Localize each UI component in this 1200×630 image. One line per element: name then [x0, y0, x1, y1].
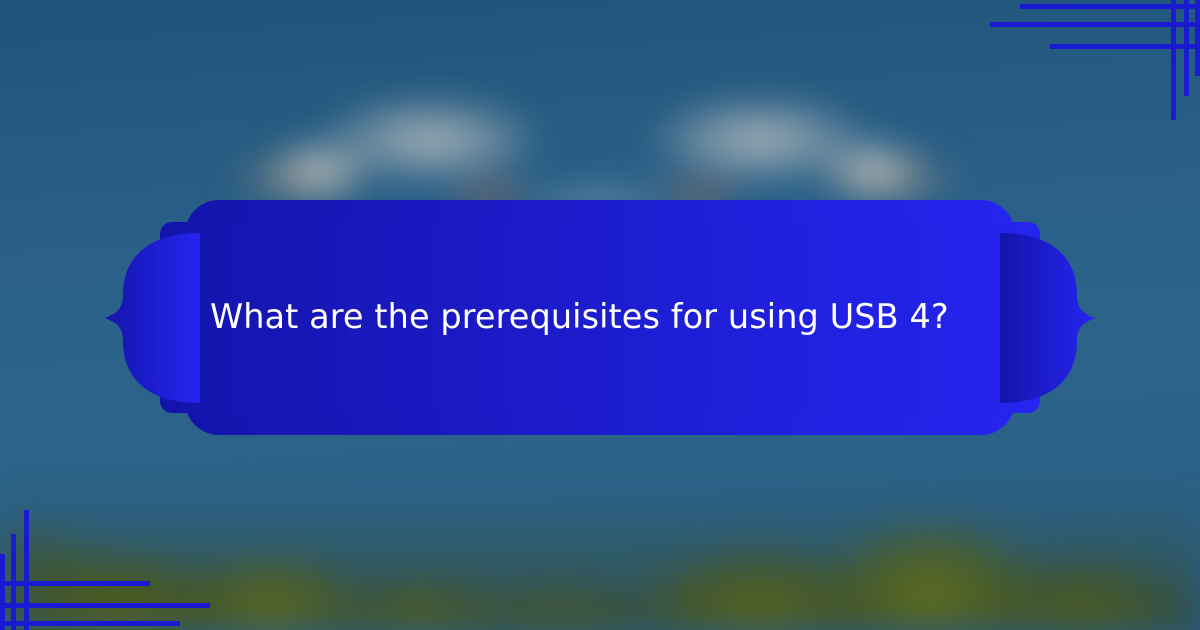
question-card: What are the prerequisites for using USB… [0, 0, 1200, 630]
lattice-horizontal-lines [990, 4, 1200, 49]
corner-lattice-top-right [980, 0, 1200, 120]
lattice-vertical-lines [0, 510, 29, 630]
lattice-horizontal-lines [0, 581, 210, 626]
corner-lattice-bottom-left [0, 510, 220, 630]
plaque-right-ornament [1000, 233, 1095, 403]
lattice-vertical-lines [1171, 0, 1200, 120]
page-title: What are the prerequisites for using USB… [210, 190, 1000, 445]
plaque-left-ornament [105, 233, 200, 403]
